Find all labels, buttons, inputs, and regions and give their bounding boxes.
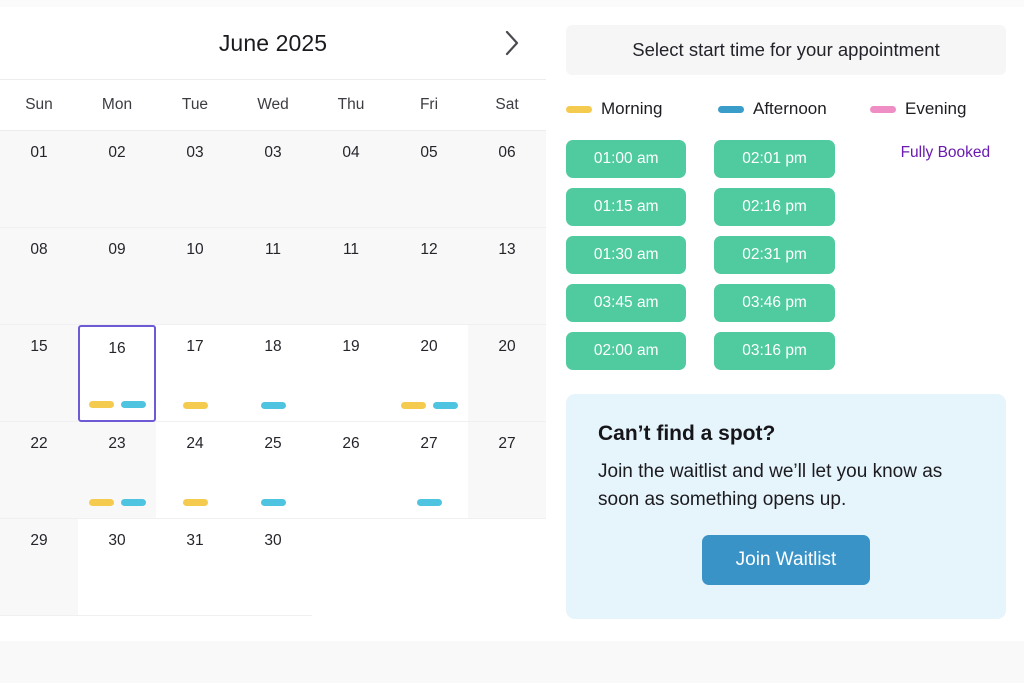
- legend-item-morning: Morning: [566, 99, 718, 119]
- calendar-day-number: 11: [234, 242, 312, 258]
- evening-fully-booked-label: Fully Booked: [863, 144, 1018, 162]
- morning-swatch-icon: [566, 106, 592, 113]
- waitlist-body: Join the waitlist and we’ll let you know…: [598, 458, 974, 513]
- calendar-empty-cell: [390, 519, 468, 616]
- day-availability-dots: [390, 402, 468, 409]
- morning-availability-dot-icon: [89, 401, 114, 408]
- slot-legend: Morning Afternoon Evening: [566, 99, 1016, 119]
- calendar-day-cell[interactable]: 20: [390, 325, 468, 422]
- weekday-label-fri: Fri: [390, 96, 468, 114]
- legend-label-morning: Morning: [601, 99, 662, 119]
- calendar-day-number: 20: [468, 339, 546, 355]
- calendar-day-cell[interactable]: 30: [78, 519, 156, 616]
- slots-header: Select start time for your appointment: [566, 25, 1006, 75]
- afternoon-availability-dot-icon: [261, 499, 286, 506]
- calendar-empty-cell: [468, 519, 546, 616]
- calendar-day-cell[interactable]: 06: [468, 131, 546, 228]
- calendar-day-cell[interactable]: 19: [312, 325, 390, 422]
- join-waitlist-button[interactable]: Join Waitlist: [702, 535, 871, 585]
- time-slot-button[interactable]: 01:00 am: [566, 140, 686, 178]
- time-slot-button[interactable]: 02:31 pm: [714, 236, 834, 274]
- afternoon-availability-dot-icon: [417, 499, 442, 506]
- calendar-day-number: 08: [0, 242, 78, 258]
- time-slot-button[interactable]: 03:46 pm: [714, 284, 834, 322]
- calendar-day-number: 27: [390, 436, 468, 452]
- legend-label-evening: Evening: [905, 99, 966, 119]
- calendar-day-cell[interactable]: 18: [234, 325, 312, 422]
- slots-header-text: Select start time for your appointment: [632, 39, 939, 61]
- day-availability-dots: [234, 402, 312, 409]
- calendar-day-number: 30: [78, 533, 156, 549]
- calendar-day-number: 22: [0, 436, 78, 452]
- calendar-day-cell[interactable]: 04: [312, 131, 390, 228]
- calendar-day-number: 24: [156, 436, 234, 452]
- time-slot-button[interactable]: 02:01 pm: [714, 140, 834, 178]
- calendar-day-cell[interactable]: 24: [156, 422, 234, 519]
- calendar-day-cell[interactable]: 31: [156, 519, 234, 616]
- calendar-day-cell[interactable]: 16: [78, 325, 156, 422]
- waitlist-title: Can’t find a spot?: [598, 422, 974, 446]
- time-selection-panel: Select start time for your appointment M…: [560, 7, 1024, 641]
- chevron-right-icon[interactable]: [490, 21, 534, 65]
- time-slot-button[interactable]: 03:45 am: [566, 284, 686, 322]
- calendar-day-number: 03: [156, 145, 234, 161]
- afternoon-swatch-icon: [718, 106, 744, 113]
- calendar-day-cell[interactable]: 01: [0, 131, 78, 228]
- page-top-strip: [0, 0, 1024, 7]
- weekday-label-wed: Wed: [234, 96, 312, 114]
- calendar-month-title: June 2025: [219, 30, 327, 57]
- calendar-day-number: 19: [312, 339, 390, 355]
- afternoon-slot-column: 02:01 pm02:16 pm02:31 pm03:46 pm03:16 pm: [714, 140, 834, 370]
- weekday-label-mon: Mon: [78, 96, 156, 114]
- day-availability-dots: [390, 499, 468, 506]
- calendar-empty-cell: [312, 519, 390, 616]
- calendar-day-number: 23: [78, 436, 156, 452]
- slot-columns: 01:00 am01:15 am01:30 am03:45 am02:00 am…: [566, 140, 1018, 370]
- waitlist-button-wrap: Join Waitlist: [598, 535, 974, 585]
- calendar-day-number: 29: [0, 533, 78, 549]
- calendar-day-cell[interactable]: 25: [234, 422, 312, 519]
- day-availability-dots: [156, 499, 234, 506]
- calendar-day-number: 01: [0, 145, 78, 161]
- calendar-day-number: 13: [468, 242, 546, 258]
- evening-swatch-icon: [870, 106, 896, 113]
- legend-label-afternoon: Afternoon: [753, 99, 827, 119]
- calendar-header: June 2025: [0, 7, 546, 80]
- day-availability-dots: [156, 402, 234, 409]
- morning-availability-dot-icon: [401, 402, 426, 409]
- calendar-day-cell[interactable]: 27: [390, 422, 468, 519]
- legend-item-afternoon: Afternoon: [718, 99, 870, 119]
- calendar-day-number: 06: [468, 145, 546, 161]
- morning-slot-column: 01:00 am01:15 am01:30 am03:45 am02:00 am: [566, 140, 686, 370]
- time-slot-button[interactable]: 03:16 pm: [714, 332, 834, 370]
- day-availability-dots: [80, 401, 154, 408]
- calendar-day-cell[interactable]: 17: [156, 325, 234, 422]
- time-slot-button[interactable]: 01:30 am: [566, 236, 686, 274]
- calendar-day-number: 20: [390, 339, 468, 355]
- page-footer-strip: [0, 641, 1024, 683]
- weekday-label-tue: Tue: [156, 96, 234, 114]
- calendar-day-cell[interactable]: 23: [78, 422, 156, 519]
- calendar-day-number: 03: [234, 145, 312, 161]
- calendar-day-cell[interactable]: 03: [234, 131, 312, 228]
- afternoon-availability-dot-icon: [121, 401, 146, 408]
- day-availability-dots: [78, 499, 156, 506]
- afternoon-availability-dot-icon: [261, 402, 286, 409]
- calendar-day-cell[interactable]: 03: [156, 131, 234, 228]
- calendar-day-number: 02: [78, 145, 156, 161]
- waitlist-card: Can’t find a spot? Join the waitlist and…: [566, 394, 1006, 619]
- calendar-day-number: 04: [312, 145, 390, 161]
- calendar-day-cell[interactable]: 09: [78, 228, 156, 325]
- legend-item-evening: Evening: [870, 99, 966, 119]
- calendar-day-number: 11: [312, 242, 390, 258]
- calendar-day-number: 10: [156, 242, 234, 258]
- evening-slot-column: Fully Booked: [863, 140, 1018, 370]
- calendar-day-number: 27: [468, 436, 546, 452]
- calendar-day-number: 16: [80, 341, 154, 357]
- morning-availability-dot-icon: [89, 499, 114, 506]
- morning-availability-dot-icon: [183, 499, 208, 506]
- calendar-day-cell[interactable]: 11: [234, 228, 312, 325]
- appointment-booking-page: June 2025 Sun Mon Tue Wed Thu Fri Sat 01…: [0, 0, 1024, 683]
- afternoon-availability-dot-icon: [433, 402, 458, 409]
- weekday-label-sat: Sat: [468, 96, 546, 114]
- calendar-day-cell[interactable]: 11: [312, 228, 390, 325]
- calendar-day-number: 31: [156, 533, 234, 549]
- calendar-day-number: 15: [0, 339, 78, 355]
- calendar-day-number: 05: [390, 145, 468, 161]
- calendar-day-number: 26: [312, 436, 390, 452]
- calendar-weekday-header: Sun Mon Tue Wed Thu Fri Sat: [0, 80, 546, 131]
- calendar-day-cell[interactable]: 08: [0, 228, 78, 325]
- calendar-day-cell[interactable]: 13: [468, 228, 546, 325]
- calendar-day-cell[interactable]: 29: [0, 519, 78, 616]
- calendar-day-cell[interactable]: 30: [234, 519, 312, 616]
- day-availability-dots: [234, 499, 312, 506]
- calendar-day-cell[interactable]: 20: [468, 325, 546, 422]
- calendar-day-number: 12: [390, 242, 468, 258]
- calendar-day-number: 25: [234, 436, 312, 452]
- calendar-day-number: 18: [234, 339, 312, 355]
- morning-availability-dot-icon: [183, 402, 208, 409]
- calendar-day-cell[interactable]: 27: [468, 422, 546, 519]
- calendar-day-number: 09: [78, 242, 156, 258]
- time-slot-button[interactable]: 02:00 am: [566, 332, 686, 370]
- weekday-label-thu: Thu: [312, 96, 390, 114]
- time-slot-button[interactable]: 02:16 pm: [714, 188, 834, 226]
- calendar-day-cell[interactable]: 02: [78, 131, 156, 228]
- calendar-day-cell[interactable]: 12: [390, 228, 468, 325]
- calendar-day-cell[interactable]: 26: [312, 422, 390, 519]
- calendar-day-cell[interactable]: 10: [156, 228, 234, 325]
- time-slot-button[interactable]: 01:15 am: [566, 188, 686, 226]
- calendar-day-cell[interactable]: 22: [0, 422, 78, 519]
- calendar-day-cell[interactable]: 15: [0, 325, 78, 422]
- weekday-label-sun: Sun: [0, 96, 78, 114]
- calendar-day-number: 30: [234, 533, 312, 549]
- afternoon-availability-dot-icon: [121, 499, 146, 506]
- calendar-day-number: 17: [156, 339, 234, 355]
- calendar-day-cell[interactable]: 05: [390, 131, 468, 228]
- calendar-panel: June 2025 Sun Mon Tue Wed Thu Fri Sat 01…: [0, 7, 546, 616]
- calendar-grid: 0102030304050608091011111213151617181920…: [0, 131, 546, 616]
